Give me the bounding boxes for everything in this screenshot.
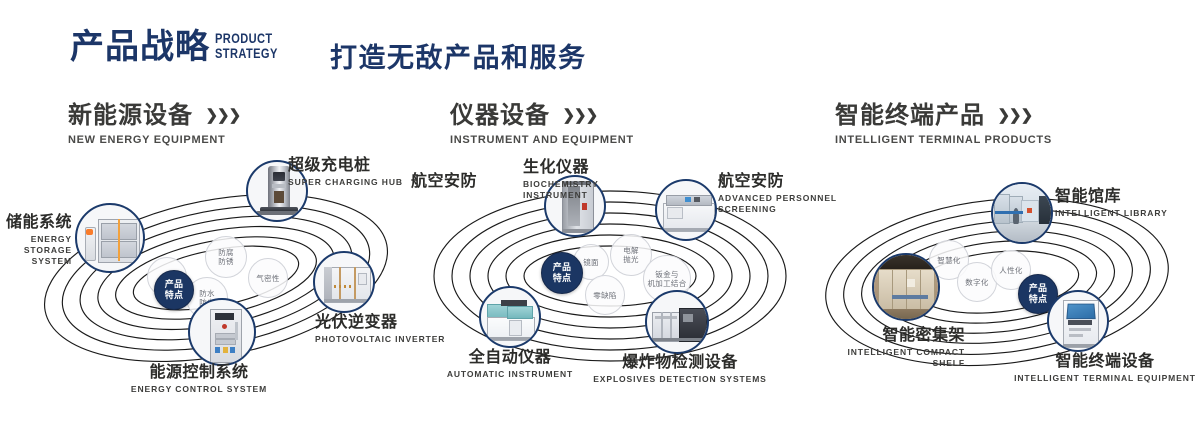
node-label-intelligent-library: 智能馆库 INTELLIGENT LIBRARY <box>1055 187 1200 219</box>
section-title-en: INSTRUMENT AND EQUIPMENT <box>450 134 634 146</box>
feature-bubble: 零缺陷 <box>585 275 625 315</box>
core-bubble-product-features: 产品 特点 <box>541 252 583 294</box>
node-photovoltaic-inverter[interactable] <box>313 251 375 313</box>
core-bubble-product-features: 产品 特点 <box>154 270 194 310</box>
node-intelligent-compact-shelf[interactable] <box>872 253 940 321</box>
cluster-intelligent-terminal: 智慧化 数字化 人性化 产品 特点 智能馆库 INTELLIGENT LIBRA… <box>805 150 1200 400</box>
node-label-intelligent-compact-shelf: 智能密集架 INTELLIGENT COMPACT SHELF <box>785 326 965 369</box>
section-title-en: NEW ENERGY EQUIPMENT <box>68 134 240 146</box>
section-title-en: INTELLIGENT TERMINAL PRODUCTS <box>835 134 1052 146</box>
section-title-cn: 新能源设备 <box>68 95 193 130</box>
feature-bubble: 防腐 防锈 <box>205 236 247 278</box>
node-label-energy-storage-system: 储能系统 ENERGY STORAGE SYSTEM <box>4 213 72 267</box>
page-title-en: PRODUCT STRATEGY <box>215 31 278 61</box>
node-energy-storage-system[interactable] <box>75 203 145 273</box>
node-energy-control-system[interactable] <box>188 298 256 366</box>
cluster-instrument: 镜面 电解 抛光 钣金与 机加工结合 零缺陷 产品 特点 航空安防 生化仪器 B… <box>405 150 815 400</box>
pv-inverter-icon <box>315 253 373 311</box>
node-label-automatic-instrument: 全自动仪器 AUTOMATIC INSTRUMENT <box>415 348 605 380</box>
library-interior-icon <box>993 184 1051 242</box>
node-intelligent-library[interactable] <box>991 182 1053 244</box>
section-head-intelligent-terminal: 智能终端产品 ❯❯❯ INTELLIGENT TERMINAL PRODUCTS <box>835 95 1052 146</box>
control-cabinet-icon <box>190 300 254 364</box>
chevron-right-triple-icon: ❯❯❯ <box>205 106 240 124</box>
node-automatic-instrument[interactable] <box>479 286 541 348</box>
chevron-right-triple-icon: ❯❯❯ <box>997 106 1032 124</box>
automatic-instrument-icon <box>481 288 539 346</box>
battery-cabinet-icon <box>77 205 143 271</box>
page-subtitle: 打造无敌产品和服务 <box>330 36 587 75</box>
compact-shelf-icon <box>874 255 938 319</box>
section-head-instrument: 仪器设备 ❯❯❯ INSTRUMENT AND EQUIPMENT <box>450 95 634 146</box>
page-header: 产品战略 PRODUCT STRATEGY 打造无敌产品和服务 <box>0 0 1200 88</box>
page-title: 产品战略 <box>70 27 210 67</box>
cluster-new-energy: 户外 防腐 防锈 防水 防尘 气密性 产品 特点 储能系统 ENERGY STO… <box>20 150 420 400</box>
section-title-cn: 智能终端产品 <box>835 95 985 130</box>
terminal-kiosk-icon <box>1049 292 1107 350</box>
bench-analyzer-icon <box>657 181 715 239</box>
section-title-cn: 仪器设备 <box>450 95 550 130</box>
node-intelligent-terminal-equipment[interactable] <box>1047 290 1109 352</box>
node-label-biochemistry-instrument: 生化仪器 BIOCHEMISTRY INSTRUMENT <box>523 158 653 201</box>
product-strategy-infographic: 产品战略 PRODUCT STRATEGY 打造无敌产品和服务 新能源设备 ❯❯… <box>0 0 1200 422</box>
explosives-detector-icon <box>647 292 707 352</box>
node-explosives-detection-system[interactable] <box>645 290 709 354</box>
feature-bubble: 气密性 <box>248 258 288 298</box>
node-label-intelligent-terminal-equipment: 智能终端设备 INTELLIGENT TERMINAL EQUIPMENT <box>1010 352 1200 384</box>
node-label-aviation-security: 航空安防 <box>411 172 531 191</box>
chevron-right-triple-icon: ❯❯❯ <box>562 106 597 124</box>
node-label-explosives-detection-system: 爆炸物检测设备 EXPLOSIVES DETECTION SYSTEMS <box>580 353 780 385</box>
node-label-energy-control-system: 能源控制系统 ENERGY CONTROL SYSTEM <box>84 363 314 395</box>
section-head-new-energy: 新能源设备 ❯❯❯ NEW ENERGY EQUIPMENT <box>68 95 240 146</box>
node-advanced-personnel-screening[interactable] <box>655 179 717 241</box>
